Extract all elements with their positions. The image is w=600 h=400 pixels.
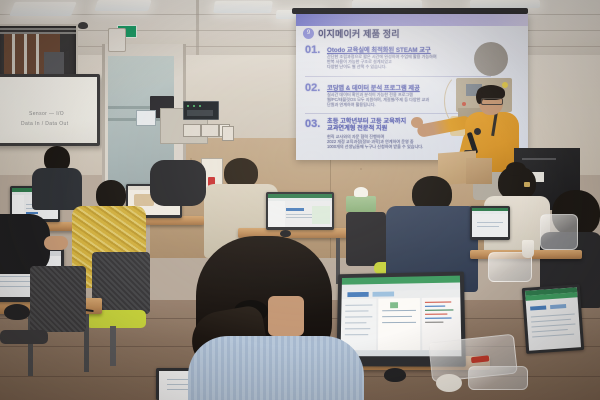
ceiling-light-panel: [470, 0, 540, 8]
chair-base: [110, 326, 116, 366]
slide-item-number: 02.: [305, 82, 320, 94]
kit-bag: [540, 214, 578, 250]
slide-number-badge: 9: [303, 28, 314, 39]
wall-control-panel[interactable]: [183, 101, 219, 120]
outlet-panel[interactable]: [222, 126, 234, 141]
door-poster: [136, 110, 156, 126]
ceiling-camera-icon: [78, 22, 88, 29]
ceiling-light-panel: [213, 1, 273, 13]
light-switch-panel[interactable]: [183, 124, 201, 137]
attendee-foreground-top: [188, 336, 364, 400]
laptop[interactable]: [266, 192, 334, 230]
paper-cup: [522, 240, 534, 258]
whiteboard-note-line-1: Sensor — I/O: [29, 111, 64, 117]
attendee-foreground-neck: [268, 296, 304, 336]
ceiling-light-panel: [9, 2, 77, 16]
slide-title-row: 9 이지메이커 제품 정리: [303, 27, 513, 39]
laptop-screen: [268, 194, 332, 227]
hair-clip-icon: [524, 182, 530, 187]
ceiling-light-panel: [94, 0, 152, 11]
hand: [44, 236, 68, 250]
presenter-pointing-hand: [411, 117, 423, 128]
photo-scene: Sensor — I/O Data In / Data Out 9 이지메이커 …: [0, 0, 600, 400]
office-chair-back[interactable]: [346, 212, 386, 266]
hair-bun: [506, 162, 526, 176]
office-chair-seat[interactable]: [0, 330, 48, 344]
ac-control-panel[interactable]: [201, 124, 219, 137]
attendee-back-right: [150, 160, 206, 206]
laptop[interactable]: [522, 284, 584, 354]
slide-item-number: 01.: [305, 44, 320, 56]
attendee-dark-left: [0, 214, 50, 274]
laptop-screen: [525, 287, 581, 350]
kit-bag: [468, 366, 528, 390]
whiteboard: Sensor — I/O Data In / Data Out: [0, 74, 100, 146]
office-chair-back[interactable]: [30, 266, 86, 332]
laptop[interactable]: [470, 206, 510, 240]
microphone-head-icon: [474, 128, 481, 135]
slide-item-heading: 초등 고학년부터 고등 교육까지 교과연계형 전문적 지원: [327, 118, 406, 132]
computer-mouse[interactable]: [4, 304, 30, 320]
slide-title: 이지메이커 제품 정리: [318, 27, 400, 40]
tissue-box: [346, 196, 376, 212]
wall-speaker-icon: [108, 28, 126, 52]
white-disc-component: [436, 374, 462, 392]
attendee-back-left-torso: [32, 168, 82, 210]
cardboard-box: [466, 158, 492, 184]
whiteboard-note-line-2: Data In / Data Out: [21, 121, 69, 127]
slide-header-band: [296, 14, 528, 26]
slide-item-heading: Otodo 교육실에 최적화된 STEAM 교구: [327, 45, 431, 54]
glasses-icon: [481, 98, 503, 105]
tissue-sheet: [354, 187, 368, 197]
slide-item-number: 03.: [305, 118, 320, 130]
laptop-screen: [472, 208, 508, 237]
slide-item-heading: 코딩앱 & 데이터 분석 프로그램 제공: [327, 83, 420, 92]
computer-mouse[interactable]: [384, 368, 406, 382]
